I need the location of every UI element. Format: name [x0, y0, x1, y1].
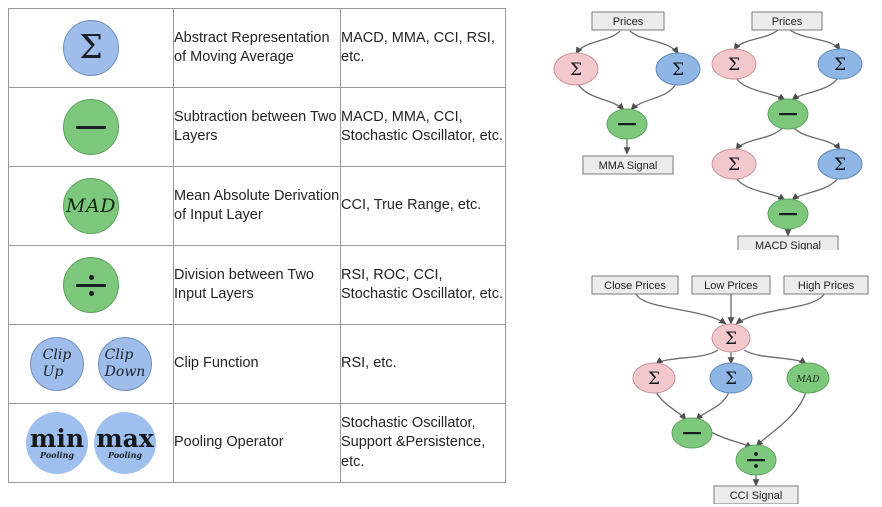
cci-node-sigma-blue-label: Σ	[725, 369, 737, 389]
symbol-cell: Clip Up Clip Down	[9, 325, 174, 404]
symbol-cell: min Pooling max Pooling	[9, 404, 174, 483]
macd-node-sigma-pink-2: Σ	[712, 149, 756, 179]
macd-node-sigma-pink-1: Σ	[712, 49, 756, 79]
cci-node-minus	[672, 418, 712, 448]
macd-node-sigma-blue-1-label: Σ	[834, 55, 846, 75]
symbol-wrap: MAD	[9, 167, 173, 245]
cci-node-divide	[736, 445, 776, 475]
macd-output-label: MACD Signal	[755, 240, 821, 250]
cci-node-sigma-pink: Σ	[633, 363, 675, 393]
clip-up-icon: Clip Up	[30, 337, 84, 391]
usage-cell: RSI, etc.	[341, 325, 506, 404]
min-pooling-icon: min Pooling	[26, 412, 88, 474]
clip-down-line1: Clip	[105, 347, 146, 365]
table-row: Division between Two Input Layers RSI, R…	[9, 246, 506, 325]
divide-glyph	[76, 275, 106, 296]
macd-node-sigma-blue-2-label: Σ	[834, 155, 846, 175]
macd-diagram: Prices Σ Σ Σ Σ	[700, 4, 880, 250]
meaning-cell: Subtraction between Two Layers	[174, 88, 341, 167]
macd-node-minus-2	[768, 199, 808, 229]
cci-node-sigma-top-label: Σ	[725, 329, 737, 349]
mma-node-minus	[607, 109, 647, 139]
usage-cell: MACD, MMA, CCI, RSI, etc.	[341, 9, 506, 88]
cci-node-sigma-blue: Σ	[710, 363, 752, 393]
cci-input-box-high: High Prices	[784, 276, 868, 294]
symbol-cell	[9, 88, 174, 167]
mma-input-box: Prices	[592, 12, 664, 30]
clip-down-glyph: Clip Down	[105, 347, 146, 382]
cci-diagram: Close Prices Low Prices High Prices Σ Σ …	[584, 270, 878, 504]
cci-node-mad: MAD	[787, 363, 829, 393]
cci-input-low-label: Low Prices	[704, 280, 758, 292]
clip-down-line2: Down	[105, 364, 146, 382]
max-pooling-sublabel: Pooling	[108, 451, 142, 459]
symbol-wrap	[9, 246, 173, 324]
clip-up-glyph: Clip Up	[43, 347, 72, 382]
cci-input-high-label: High Prices	[798, 280, 855, 292]
usage-cell: MACD, MMA, CCI, Stochastic Oscillator, e…	[341, 88, 506, 167]
usage-cell: Stochastic Oscillator, Support &Persiste…	[341, 404, 506, 483]
symbol-wrap: min Pooling max Pooling	[9, 404, 173, 482]
meaning-cell: Clip Function	[174, 325, 341, 404]
meaning-cell: Pooling Operator	[174, 404, 341, 483]
usage-cell: RSI, ROC, CCI, Stochastic Oscillator, et…	[341, 246, 506, 325]
table-row: MAD Mean Absolute Derivation of Input La…	[9, 167, 506, 246]
meaning-cell: Abstract Representation of Moving Averag…	[174, 9, 341, 88]
meaning-cell: Division between Two Input Layers	[174, 246, 341, 325]
sigma-icon: Σ	[63, 20, 119, 76]
macd-node-sigma-pink-1-label: Σ	[728, 55, 740, 75]
cci-input-box-close: Close Prices	[592, 276, 678, 294]
macd-node-sigma-pink-2-label: Σ	[728, 155, 740, 175]
min-pooling-sublabel: Pooling	[40, 451, 74, 459]
table-row: min Pooling max Pooling Pooling Operator…	[9, 404, 506, 483]
macd-node-minus-1	[768, 99, 808, 129]
symbol-wrap: Clip Up Clip Down	[9, 325, 173, 403]
table-row: Σ Abstract Representation of Moving Aver…	[9, 9, 506, 88]
mma-node-sigma-blue: Σ	[656, 53, 700, 85]
min-pooling-label: min	[30, 427, 84, 451]
mma-output-box: MMA Signal	[583, 156, 673, 174]
mma-node-sigma-pink: Σ	[554, 53, 598, 85]
max-pooling-icon: max Pooling	[94, 412, 156, 474]
max-pooling-label: max	[96, 427, 154, 451]
cci-node-sigma-top: Σ	[712, 324, 750, 352]
mma-node-sigma-pink-label: Σ	[570, 60, 582, 80]
cci-node-sigma-pink-label: Σ	[648, 369, 660, 389]
mma-input-label: Prices	[613, 16, 644, 28]
divide-icon	[63, 257, 119, 313]
symbol-cell: Σ	[9, 9, 174, 88]
symbol-cell: MAD	[9, 167, 174, 246]
meaning-cell: Mean Absolute Derivation of Input Layer	[174, 167, 341, 246]
cci-output-box: CCI Signal	[714, 486, 798, 504]
minus-icon	[63, 99, 119, 155]
symbol-wrap	[9, 88, 173, 166]
table-row: Subtraction between Two Layers MACD, MMA…	[9, 88, 506, 167]
macd-node-sigma-blue-2: Σ	[818, 149, 862, 179]
symbol-wrap: Σ	[9, 9, 173, 87]
minus-glyph	[76, 126, 106, 129]
macd-output-box: MACD Signal	[738, 236, 838, 250]
mad-glyph: MAD	[66, 197, 116, 216]
symbol-cell	[9, 246, 174, 325]
macd-input-label: Prices	[772, 16, 803, 28]
clip-up-line1: Clip	[43, 347, 72, 365]
operator-table: Σ Abstract Representation of Moving Aver…	[8, 8, 506, 483]
cci-node-mad-label: MAD	[796, 375, 820, 385]
mma-output-label: MMA Signal	[599, 160, 658, 172]
divide-dot-bottom	[89, 291, 94, 296]
cci-input-close-label: Close Prices	[604, 280, 666, 292]
cci-output-label: CCI Signal	[730, 490, 783, 502]
table-row: Clip Up Clip Down Clip Function RSI, etc…	[9, 325, 506, 404]
usage-cell: CCI, True Range, etc.	[341, 167, 506, 246]
divide-bar	[76, 284, 106, 287]
sigma-glyph: Σ	[79, 30, 102, 63]
mad-icon: MAD	[63, 178, 119, 234]
cci-input-box-low: Low Prices	[692, 276, 770, 294]
macd-input-box: Prices	[752, 12, 822, 30]
clip-up-line2: Up	[43, 364, 72, 382]
divide-dot-top	[89, 275, 94, 280]
macd-node-sigma-blue-1: Σ	[818, 49, 862, 79]
mma-node-sigma-blue-label: Σ	[672, 60, 684, 80]
clip-down-icon: Clip Down	[98, 337, 152, 391]
